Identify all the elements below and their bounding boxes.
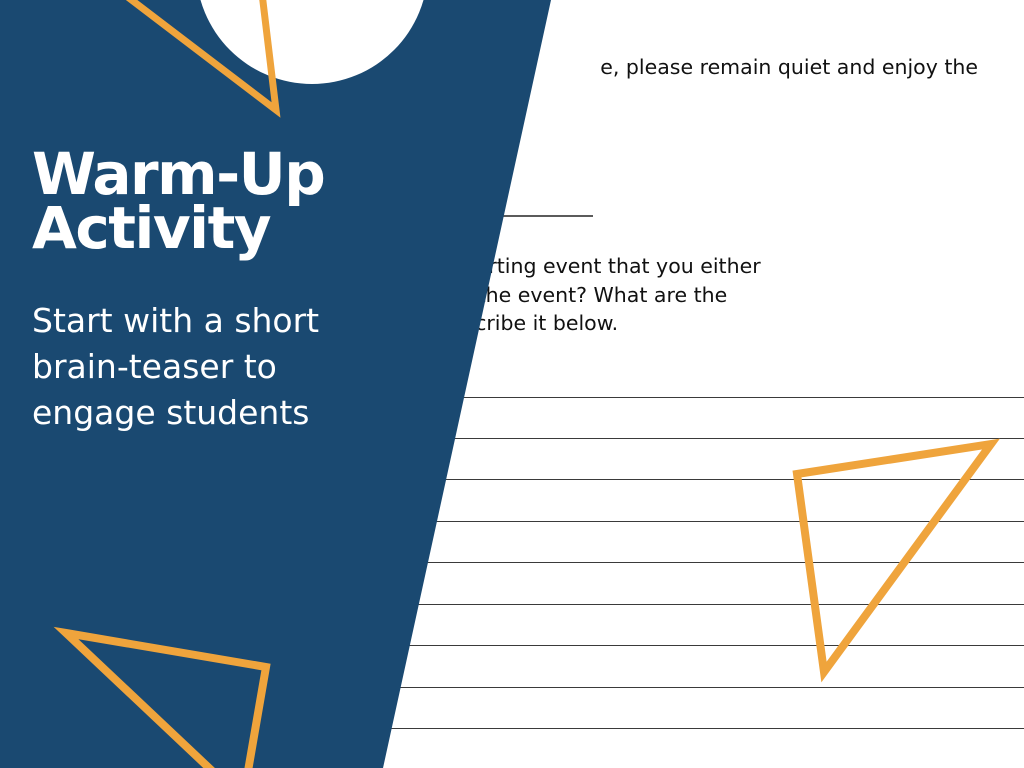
worksheet-answer-line xyxy=(242,562,1024,563)
panel-text-block: Warm-Up Activity Start with a short brai… xyxy=(32,148,402,436)
worksheet-answer-line xyxy=(215,687,1024,688)
worksheet-answer-line xyxy=(206,728,1024,729)
worksheet-answer-line xyxy=(224,645,1024,646)
page-subtitle: Start with a short brain-teaser to engag… xyxy=(32,256,332,436)
slide-canvas: e, please remain quiet and enjoy the f y… xyxy=(0,0,1024,768)
page-title: Warm-Up Activity xyxy=(32,148,402,256)
worksheet-answer-line xyxy=(251,521,1024,522)
worksheet-answer-line xyxy=(233,604,1024,605)
page-title-line-2: Activity xyxy=(32,202,402,256)
worksheet-answer-line xyxy=(269,438,1024,439)
worksheet-answer-line xyxy=(260,479,1024,480)
